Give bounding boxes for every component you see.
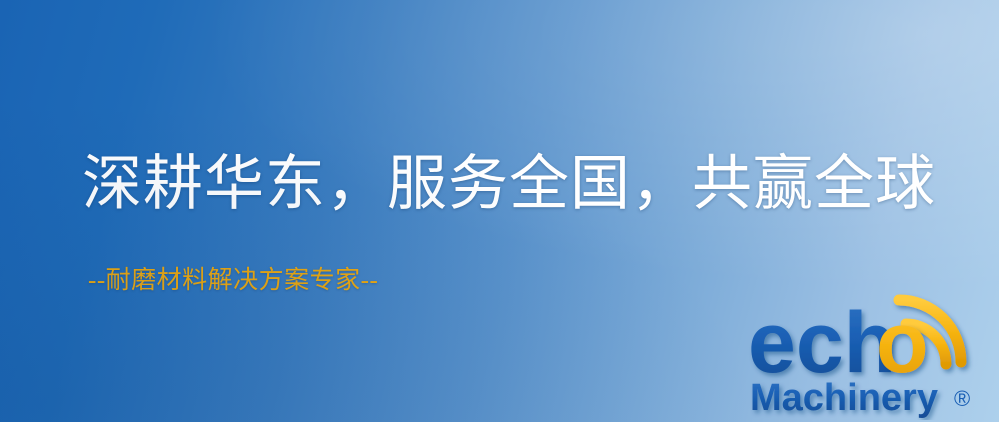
page-subtitle: --耐磨材料解决方案专家--: [88, 268, 378, 293]
page-title: 深耕华东，服务全国，共赢全球: [82, 154, 936, 214]
promotional-banner: 深耕华东，服务全国，共赢全球 --耐磨材料解决方案专家--: [0, 0, 999, 422]
logo-tagline: Machinery: [750, 377, 938, 419]
echo-machinery-logo: ech o Machinery ®: [746, 292, 996, 420]
registered-trademark-icon: ®: [954, 386, 970, 411]
